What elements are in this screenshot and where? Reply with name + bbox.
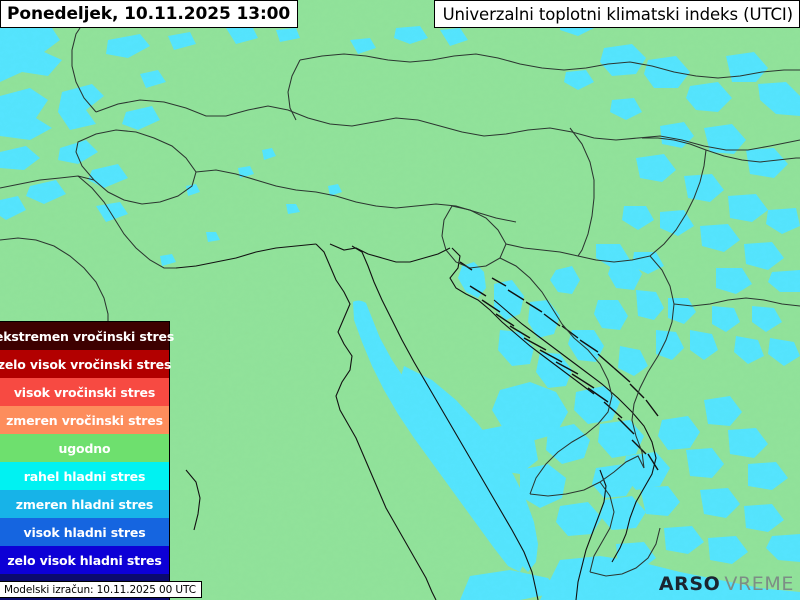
logo-arso-text: ARSO [659,573,721,595]
legend-row: ugodno [0,434,169,462]
legend-label: zmeren vročinski stres [6,413,163,428]
model-run-text: Modelski izračun: 10.11.2025 00 UTC [4,584,196,596]
legend-row: visok vročinski stres [0,378,169,406]
map-product-text: Univerzalni toplotni klimatski indeks (U… [443,5,793,24]
model-run-footer: Modelski izračun: 10.11.2025 00 UTC [0,581,202,598]
legend-row: zmeren vročinski stres [0,406,169,434]
arso-vreme-logo[interactable]: ARSO VREME [659,573,794,595]
legend-label: zelo visok hladni stres [7,553,161,568]
legend-row: zelo visok hladni stres [0,546,169,574]
legend-label: zelo visok vročinski stres [0,357,171,372]
map-datetime-title: Ponedeljek, 10.11.2025 13:00 [0,0,298,28]
legend-row: ekstremen vročinski stres [0,322,169,350]
legend-label: visok hladni stres [23,525,145,540]
logo-vreme-text: VREME [724,573,794,595]
map-datetime-text: Ponedeljek, 10.11.2025 13:00 [7,4,290,24]
utci-legend: ekstremen vročinski streszelo visok vroč… [0,321,170,600]
legend-label: ekstremen vročinski stres [0,329,174,344]
legend-row: rahel hladni stres [0,462,169,490]
legend-row: zelo visok vročinski stres [0,350,169,378]
legend-label: visok vročinski stres [14,385,155,400]
legend-row: visok hladni stres [0,518,169,546]
map-product-title: Univerzalni toplotni klimatski indeks (U… [434,0,800,28]
legend-label: zmeren hladni stres [16,497,153,512]
legend-row: zmeren hladni stres [0,490,169,518]
legend-label: rahel hladni stres [24,469,146,484]
legend-label: ugodno [59,441,111,456]
utci-map-page: Ponedeljek, 10.11.2025 13:00 Univerzalni… [0,0,800,600]
